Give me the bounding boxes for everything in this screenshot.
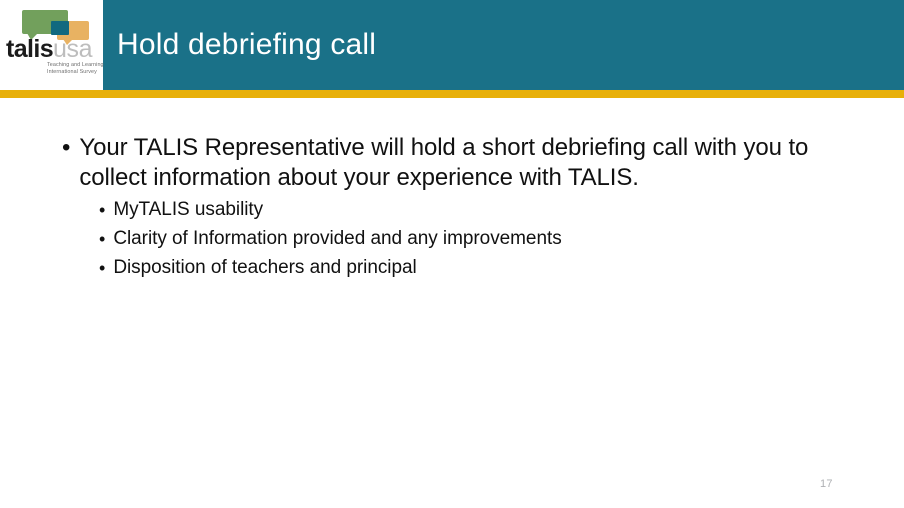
logo-wordmark-secondary: usa	[53, 35, 92, 63]
speech-bubble-teal-icon	[51, 21, 69, 35]
main-bullet-text: Your TALIS Representative will hold a sh…	[79, 133, 852, 193]
bullet-marker: •	[99, 255, 105, 281]
main-bullet-item: • Your TALIS Representative will hold a …	[62, 133, 852, 193]
sub-bullet-list: • MyTALIS usability • Clarity of Informa…	[99, 197, 819, 284]
sub-bullet-text: Clarity of Information provided and any …	[113, 226, 819, 252]
bullet-marker: •	[99, 226, 105, 252]
list-item: • Disposition of teachers and principal	[99, 255, 819, 281]
logo-panel: talisusa Teaching and Learning Internati…	[0, 0, 103, 90]
sub-bullet-text: Disposition of teachers and principal	[113, 255, 819, 281]
slide-title: Hold debriefing call	[117, 26, 376, 64]
logo-tagline-line2: International Survey	[47, 69, 104, 76]
sub-bullet-text: MyTALIS usability	[113, 197, 819, 223]
presentation-slide: talisusa Teaching and Learning Internati…	[0, 0, 904, 508]
bullet-marker: •	[99, 197, 105, 223]
logo-wordmark-primary: talis	[6, 35, 53, 63]
list-item: • Clarity of Information provided and an…	[99, 226, 819, 252]
logo-wordmark: talisusa	[6, 36, 92, 62]
gold-accent-bar	[0, 90, 904, 98]
bullet-marker: •	[62, 133, 70, 163]
slide-body: • Your TALIS Representative will hold a …	[0, 98, 904, 508]
page-number: 17	[820, 478, 833, 490]
logo-tagline: Teaching and Learning International Surv…	[47, 62, 104, 76]
list-item: • MyTALIS usability	[99, 197, 819, 223]
logo-tagline-line1: Teaching and Learning	[47, 62, 104, 69]
